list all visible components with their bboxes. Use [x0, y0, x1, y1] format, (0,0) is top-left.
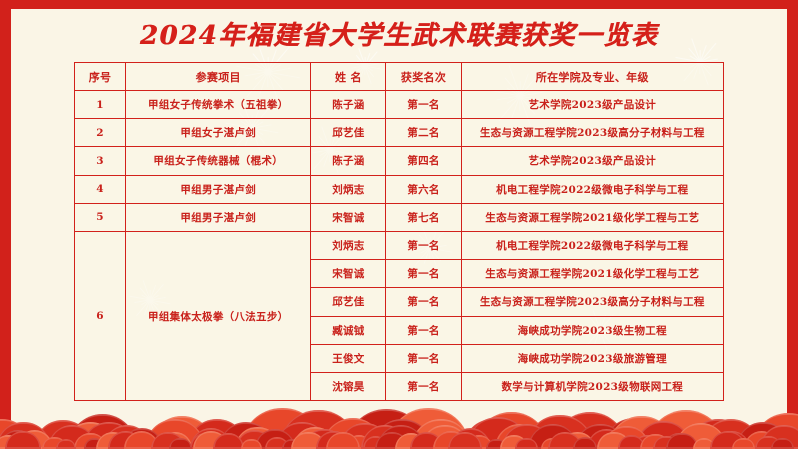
table-row: 1甲组女子传统拳术（五祖拳）陈子涵第一名艺术学院2023级产品设计 [75, 91, 724, 119]
cell-event: 甲组女子传统器械（棍术） [126, 147, 311, 175]
cell-dept: 生态与资源工程学院2023级高分子材料与工程 [461, 119, 723, 147]
cell-rank: 第二名 [386, 119, 461, 147]
table-row: 3甲组女子传统器械（棍术）陈子涵第四名艺术学院2023级产品设计 [75, 147, 724, 175]
cell-dept: 生态与资源工程学院2021级化学工程与工艺 [461, 260, 723, 288]
table-row: 4甲组男子湛卢剑刘炳志第六名机电工程学院2022级微电子科学与工程 [75, 175, 724, 203]
table-row: 6甲组集体太极拳（八法五步）刘炳志第一名机电工程学院2022级微电子科学与工程 [75, 231, 724, 259]
cell-dept: 机电工程学院2022级微电子科学与工程 [461, 175, 723, 203]
cell-name: 宋智诚 [311, 260, 386, 288]
cell-name: 刘炳志 [311, 175, 386, 203]
column-header-dept: 所在学院及专业、年级 [461, 63, 723, 91]
cell-rank: 第一名 [386, 344, 461, 372]
poster-canvas: 2024年福建省大学生武术联赛获奖一览表 序号 参赛项目 姓 名 获奖名次 所在… [0, 0, 798, 449]
cell-event: 甲组男子湛卢剑 [126, 203, 311, 231]
cell-rank: 第一名 [386, 316, 461, 344]
cell-name: 陈子涵 [311, 147, 386, 175]
cell-rank: 第一名 [386, 288, 461, 316]
cell-rank: 第一名 [386, 260, 461, 288]
table-body: 1甲组女子传统拳术（五祖拳）陈子涵第一名艺术学院2023级产品设计2甲组女子湛卢… [75, 91, 724, 401]
table-row: 5甲组男子湛卢剑宋智诚第七名生态与资源工程学院2021级化学工程与工艺 [75, 203, 724, 231]
cell-name: 王俊文 [311, 344, 386, 372]
cell-event: 甲组男子湛卢剑 [126, 175, 311, 203]
cell-dept: 生态与资源工程学院2021级化学工程与工艺 [461, 203, 723, 231]
column-header-rank: 获奖名次 [386, 63, 461, 91]
cell-dept: 机电工程学院2022级微电子科学与工程 [461, 231, 723, 259]
cell-name: 邱艺佳 [311, 119, 386, 147]
cell-rank: 第六名 [386, 175, 461, 203]
column-header-no: 序号 [75, 63, 126, 91]
column-header-name: 姓 名 [311, 63, 386, 91]
cell-dept: 艺术学院2023级产品设计 [461, 147, 723, 175]
award-table: 序号 参赛项目 姓 名 获奖名次 所在学院及专业、年级 1甲组女子传统拳术（五祖… [74, 62, 724, 401]
cell-dept: 海峡成功学院2023级旅游管理 [461, 344, 723, 372]
cell-no: 5 [75, 203, 126, 231]
cell-rank: 第一名 [386, 91, 461, 119]
cell-rank: 第四名 [386, 147, 461, 175]
cell-event: 甲组集体太极拳（八法五步） [126, 231, 311, 400]
cell-no: 6 [75, 231, 126, 400]
cell-name: 宋智诚 [311, 203, 386, 231]
table-row: 2甲组女子湛卢剑邱艺佳第二名生态与资源工程学院2023级高分子材料与工程 [75, 119, 724, 147]
cell-dept: 艺术学院2023级产品设计 [461, 91, 723, 119]
cell-name: 陈子涵 [311, 91, 386, 119]
cell-name: 臧诚钺 [311, 316, 386, 344]
cell-event: 甲组女子湛卢剑 [126, 119, 311, 147]
cell-name: 邱艺佳 [311, 288, 386, 316]
cell-dept: 生态与资源工程学院2023级高分子材料与工程 [461, 288, 723, 316]
cell-rank: 第七名 [386, 203, 461, 231]
cell-no: 4 [75, 175, 126, 203]
column-header-event: 参赛项目 [126, 63, 311, 91]
cell-no: 1 [75, 91, 126, 119]
cell-name: 刘炳志 [311, 231, 386, 259]
cell-no: 2 [75, 119, 126, 147]
page-title: 2024年福建省大学生武术联赛获奖一览表 [0, 21, 798, 51]
cell-event: 甲组女子传统拳术（五祖拳） [126, 91, 311, 119]
table-header: 序号 参赛项目 姓 名 获奖名次 所在学院及专业、年级 [75, 63, 724, 91]
award-table-container: 序号 参赛项目 姓 名 获奖名次 所在学院及专业、年级 1甲组女子传统拳术（五祖… [74, 62, 724, 401]
frame-top-border [0, 0, 798, 9]
cell-no: 3 [75, 147, 126, 175]
table-header-row: 序号 参赛项目 姓 名 获奖名次 所在学院及专业、年级 [75, 63, 724, 91]
cloud-pattern-decoration [0, 377, 798, 449]
cell-rank: 第一名 [386, 231, 461, 259]
cell-dept: 海峡成功学院2023级生物工程 [461, 316, 723, 344]
